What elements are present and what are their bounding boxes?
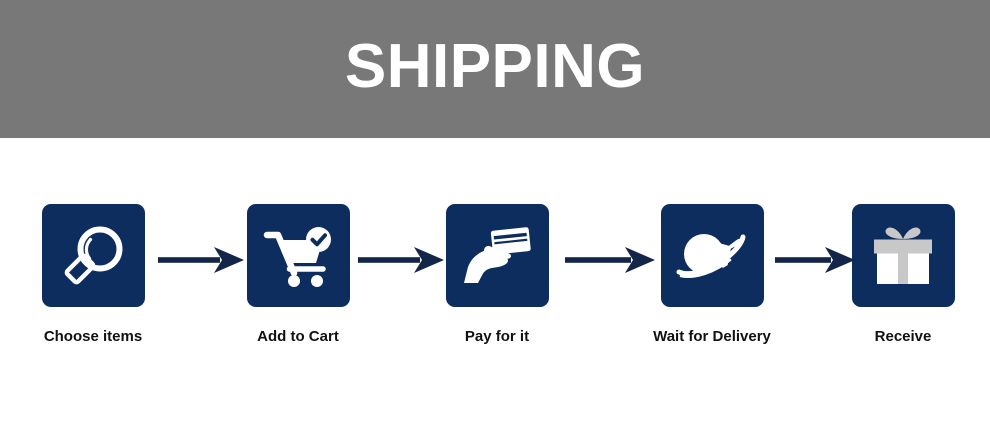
step-label: Choose items — [3, 329, 183, 346]
step-label: Pay for it — [407, 329, 587, 346]
step-icon-tile[interactable] — [42, 204, 145, 307]
hand-credit-card-icon — [462, 223, 532, 289]
page-title: SHIPPING — [345, 36, 645, 102]
header-band: SHIPPING — [0, 0, 990, 138]
globe-airplane-icon — [675, 223, 749, 289]
shopping-cart-check-icon — [263, 223, 333, 289]
step-icon-tile[interactable] — [852, 204, 955, 307]
flow-arrow-4 — [775, 243, 857, 277]
step-label: Wait for Delivery — [622, 329, 802, 346]
step-icon-tile[interactable] — [247, 204, 350, 307]
flow-arrow-3 — [565, 243, 657, 277]
step-icon-tile[interactable] — [661, 204, 764, 307]
arrow-right-icon — [565, 243, 657, 277]
process-step-choose-items[interactable]: Choose items — [3, 204, 183, 346]
step-label: Receive — [813, 329, 990, 346]
step-label: Add to Cart — [208, 329, 388, 346]
magnifier-icon — [60, 223, 126, 289]
flow-arrow-2 — [358, 243, 446, 277]
flow-arrow-1 — [158, 243, 246, 277]
arrow-right-icon — [358, 243, 446, 277]
arrow-right-icon — [158, 243, 246, 277]
gift-box-icon — [868, 221, 938, 291]
process-steps-strip: Choose items — [0, 138, 990, 436]
step-icon-tile[interactable] — [446, 204, 549, 307]
arrow-right-icon — [775, 243, 857, 277]
